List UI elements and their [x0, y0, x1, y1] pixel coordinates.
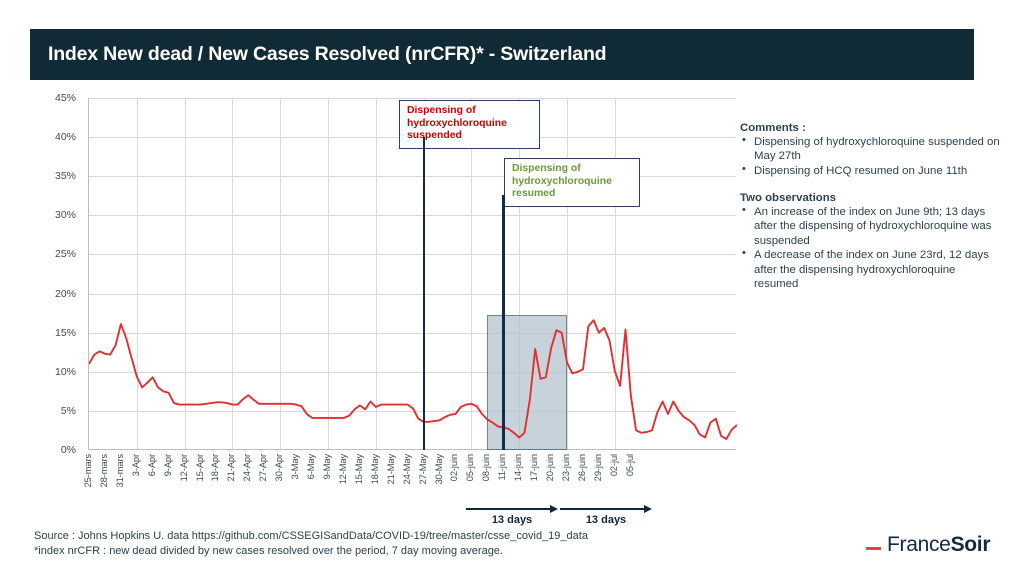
x-axis-tick-label: 18-May [370, 454, 380, 484]
y-axis-tick-label: 10% [55, 366, 76, 378]
logo-dash-icon [866, 547, 881, 551]
annotation-line: hydroxychloroquine [407, 118, 533, 131]
plot-area [88, 98, 736, 450]
x-axis-tick-label: 14-juin [513, 454, 523, 481]
arrow-shaft [560, 508, 644, 510]
footer: Source : Johns Hopkins U. data https://g… [34, 529, 714, 559]
comments-spacer [740, 178, 1000, 192]
list-item: Dispensing of hydroxychloroquine suspend… [740, 135, 1000, 164]
annotation-line: hydroxychloroquine [512, 176, 633, 189]
x-axis-tick-label: 12-Apr [179, 454, 189, 481]
event-marker-line-suspended [423, 137, 425, 450]
arrow-shaft [466, 508, 550, 510]
event-marker-line-resumed [502, 195, 504, 450]
logo-text-part2: Soir [951, 533, 991, 556]
title-bar: Index New dead / New Cases Resolved (nrC… [30, 29, 974, 80]
x-axis-tick-label: 24-Apr [242, 454, 252, 481]
page-title: Index New dead / New Cases Resolved (nrC… [48, 43, 606, 66]
x-axis-tick-label: 26-juin [577, 454, 587, 481]
comments-heading: Comments : [740, 122, 1000, 134]
x-axis-tick-label: 29-juin [593, 454, 603, 481]
x-axis-tick-label: 30-Apr [274, 454, 284, 481]
x-axis-tick-label: 12-May [338, 454, 348, 484]
x-axis-tick-label: 24-May [402, 454, 412, 484]
y-axis-tick-label: 35% [55, 170, 76, 182]
y-axis-labels: 0%5%10%15%20%25%30%35%40%45% [0, 88, 84, 460]
annotation-line: Dispensing of [512, 163, 633, 176]
x-axis-tick-label: 9-Apr [163, 454, 173, 476]
x-axis-labels: 25-mars28-mars31-mars3-Apr6-Apr9-Apr12-A… [88, 452, 736, 522]
series-line [89, 98, 737, 450]
francesoir-logo: FranceSoir [866, 533, 990, 557]
x-axis-tick-label: 6-May [306, 454, 316, 479]
x-axis-tick-label: 27-Apr [258, 454, 268, 481]
y-axis-tick-label: 45% [55, 92, 76, 104]
x-axis-tick-label: 05-jul [625, 454, 635, 476]
y-axis-tick-label: 20% [55, 288, 76, 300]
span-arrow-label: 13 days [560, 514, 652, 526]
x-axis-tick-label: 18-Apr [210, 454, 220, 481]
comments-panel: Comments : Dispensing of hydroxychloroqu… [740, 122, 1000, 291]
annotation-line: resumed [512, 188, 633, 201]
y-axis-tick-label: 5% [61, 405, 76, 417]
x-axis-tick-label: 08-juin [481, 454, 491, 481]
logo-text-part1: France [887, 533, 951, 556]
x-axis-tick-label: 3-May [290, 454, 300, 479]
x-axis-tick-label: 05-juin [465, 454, 475, 481]
observations-heading: Two observations [740, 192, 1000, 204]
slide-root: Index New dead / New Cases Resolved (nrC… [0, 0, 1024, 576]
x-axis-tick-label: 20-juin [545, 454, 555, 481]
x-axis-tick-label: 15-May [354, 454, 364, 484]
chart-container: 0%5%10%15%20%25%30%35%40%45% 25-mars28-m… [0, 88, 740, 518]
list-item: A decrease of the index on June 23rd, 12… [740, 248, 1000, 291]
x-axis-tick-label: 9-May [322, 454, 332, 479]
list-item: An increase of the index on June 9th; 13… [740, 205, 1000, 248]
x-axis-tick-label: 15-Apr [195, 454, 205, 481]
y-axis-tick-label: 0% [61, 444, 76, 456]
list-item: Dispensing of HCQ resumed on June 11th [740, 164, 1000, 178]
x-axis-tick-label: 25-mars [83, 454, 93, 487]
footer-note: *index nrCFR : new dead divided by new c… [34, 544, 714, 559]
x-axis-tick-label: 21-Apr [226, 454, 236, 481]
x-axis-tick-label: 28-mars [99, 454, 109, 487]
annotation-line: Dispensing of [407, 105, 533, 118]
x-axis-tick-label: 17-juin [529, 454, 539, 481]
x-axis-tick-label: 11-juin [497, 454, 507, 481]
footer-source: Source : Johns Hopkins U. data https://g… [34, 529, 714, 544]
annotation-suspended: Dispensing ofhydroxychloroquinesuspended [399, 100, 540, 149]
logo-text: FranceSoir [887, 533, 990, 557]
y-axis-tick-label: 30% [55, 209, 76, 221]
x-axis-tick-label: 23-juin [561, 454, 571, 481]
y-axis-tick-label: 15% [55, 327, 76, 339]
observations-list: An increase of the index on June 9th; 13… [740, 205, 1000, 291]
x-axis-tick-label: 31-mars [115, 454, 125, 487]
x-axis-tick-label: 21-May [386, 454, 396, 484]
arrow-head-icon [644, 505, 652, 513]
annotation-resumed: Dispensing ofhydroxychloroquineresumed [504, 158, 640, 207]
x-axis-tick-label: 3-Apr [131, 454, 141, 476]
y-axis-tick-label: 40% [55, 131, 76, 143]
span-arrow-label: 13 days [466, 514, 558, 526]
comments-list: Dispensing of hydroxychloroquine suspend… [740, 135, 1000, 178]
annotation-line: suspended [407, 130, 533, 143]
x-axis-tick-label: 6-Apr [147, 454, 157, 476]
x-axis-tick-label: 02-juin [449, 454, 459, 481]
y-axis-tick-label: 25% [55, 248, 76, 260]
arrow-head-icon [550, 505, 558, 513]
x-axis-tick-label: 30-May [434, 454, 444, 484]
x-axis-tick-label: 02-jul [609, 454, 619, 476]
x-axis-tick-label: 27-May [418, 454, 428, 484]
